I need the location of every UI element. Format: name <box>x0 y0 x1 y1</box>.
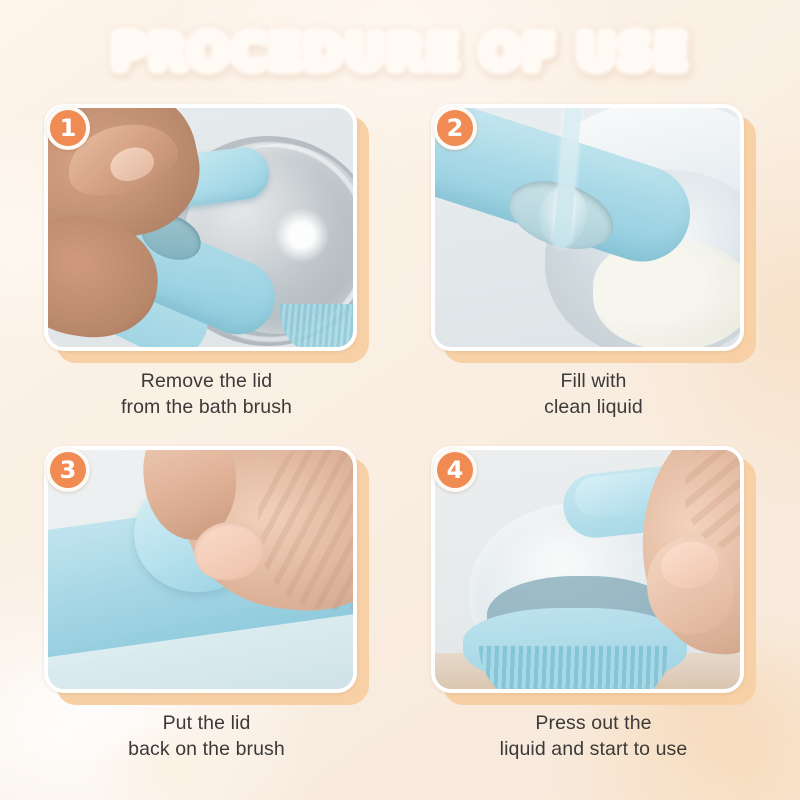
photo-artwork-3 <box>48 450 353 689</box>
step-photo-1 <box>44 104 357 351</box>
page-title: PROCEDURE OF USE <box>111 28 689 77</box>
step-card-4: 4 Press out the liquid and start to use <box>431 446 756 762</box>
step-caption-1: Remove the lid from the bath brush <box>44 369 369 420</box>
caption-line-2: liquid and start to use <box>431 737 756 763</box>
caption-line-1: Press out the <box>535 712 651 734</box>
step-caption-2: Fill with clean liquid <box>431 369 756 420</box>
photo-artwork-2 <box>435 108 740 347</box>
step-photo-2 <box>431 104 744 351</box>
photo-artwork-4 <box>435 450 740 689</box>
step-photo-3 <box>44 446 357 693</box>
step-badge-1: 1 <box>46 106 90 150</box>
caption-line-1: Remove the lid <box>141 370 272 392</box>
caption-line-1: Put the lid <box>163 712 251 734</box>
caption-line-2: back on the brush <box>44 737 369 763</box>
caption-line-1: Fill with <box>561 370 627 392</box>
step-card-3: 3 Put the lid back on the brush <box>44 446 369 762</box>
step-photo-4 <box>431 446 744 693</box>
caption-line-2: from the bath brush <box>44 395 369 421</box>
title-container: PROCEDURE OF USE <box>0 28 800 77</box>
steps-grid: 1 Remove the lid from the bath brush <box>44 104 756 763</box>
step-card-2: 2 Fill with clean liquid <box>431 104 756 420</box>
step-badge-2: 2 <box>433 106 477 150</box>
caption-line-2: clean liquid <box>431 395 756 421</box>
brush-bristles <box>479 646 671 693</box>
photo-artwork-1 <box>48 108 353 347</box>
step-caption-3: Put the lid back on the brush <box>44 711 369 762</box>
step-caption-4: Press out the liquid and start to use <box>431 711 756 762</box>
infographic-page: PROCEDURE OF USE <box>0 0 800 800</box>
step-card-1: 1 Remove the lid from the bath brush <box>44 104 369 420</box>
